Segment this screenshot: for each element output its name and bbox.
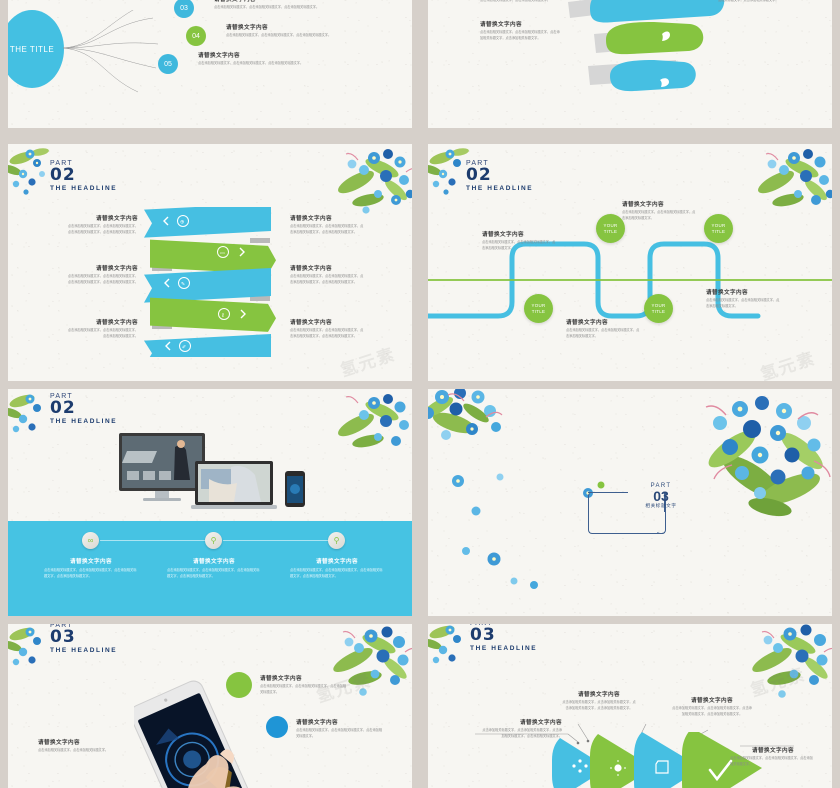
- arrow-text-title: 请替换文字内容: [672, 696, 752, 704]
- device-item-body: 点击添加相关标题文字，点击添加相关标题文字，点击添加相关标题文字，点击添加相关标…: [290, 568, 384, 579]
- item-body: 点击添加相关标题文字，点击添加相关标题文字，点击添加相关标题文字。: [214, 5, 412, 11]
- chevron-group: ⊕ ▭ ✎ ⚷ ✐: [138, 207, 288, 357]
- timeline-node-label-line2: TITLE: [652, 309, 665, 315]
- timeline-text-body: 点击添加相关标题文字，点击添加相关标题文字，点击添加相关标题文字。: [482, 240, 557, 251]
- phone-item-body: 点击添加相关标题文字，点击添加相关标题文字，点击添加相关标题文字。: [260, 684, 348, 695]
- connector-line: [223, 540, 331, 541]
- item-number: 05: [164, 61, 172, 68]
- arrow-text-block: 请替换文字内容 点击添加相关标题文字，点击添加相关标题文字，点击添加相关标题文字…: [562, 690, 636, 711]
- arrow-text-title: 请替换文字内容: [562, 690, 636, 698]
- chevron-text-block: 请替换文字内容 点击添加相关标题文字，点击添加相关标题文字，点击添加相关标题文字…: [290, 318, 366, 339]
- timeline-text-body: 点击添加相关标题文字，点击添加相关标题文字，点击添加相关标题文字。: [622, 210, 697, 221]
- chevron-text-title: 请替换文字内容: [66, 264, 138, 272]
- svg-text:✎: ✎: [181, 282, 185, 288]
- arrow-text-title: 请替换文字内容: [730, 746, 816, 754]
- chevron-text-body: 点击添加相关标题文字，点击添加相关标题文字，点击添加相关标题文字，点击添加相关标…: [290, 274, 366, 285]
- floral-bouquet-icon: [682, 389, 832, 549]
- slide-thumbnail-grid: THE TITLE 01 请替换文字内容 点击添加相关标题文字，点击添加相关标题…: [0, 0, 840, 788]
- chevron-text-title: 请替换文字内容: [290, 214, 366, 222]
- device-item-title: 请替换文字内容: [290, 557, 384, 565]
- ribbon-text-right: 请替换文字内容 点击添加相关标题文字，点击添加相关标题文字，点击添加相关标题文字…: [718, 0, 798, 3]
- watermark: 氢元素: [757, 344, 819, 381]
- slide-section-divider[interactable]: PART 03 相关标题文字: [428, 389, 832, 616]
- phone-item-body: 点击添加相关标题文字，点击添加相关标题文字，点击添加相关标题文字。: [296, 728, 384, 739]
- timeline-node[interactable]: YOUR TITLE: [596, 214, 625, 243]
- svg-text:✐: ✐: [182, 345, 186, 351]
- device-mockup-group: [113, 431, 343, 526]
- connector-line: [100, 540, 210, 541]
- ribbon-icon: [558, 0, 738, 120]
- phone-item: 请替换文字内容 点击添加相关标题文字，点击添加相关标题文字，点击添加相关标题文字…: [296, 718, 384, 739]
- item-number: 03: [180, 5, 188, 12]
- ribbon-text-body: 点击添加相关标题文字，点击添加相关标题文字，点击添加相关标题文字，点击添加相关标…: [480, 30, 560, 41]
- arrow-text-body: 点击添加相关标题文字，点击添加相关标题文字，点击添加相关标题文字。: [730, 756, 816, 767]
- device-item-body: 点击添加相关标题文字，点击添加相关标题文字，点击添加相关标题文字，点击添加相关标…: [44, 568, 138, 579]
- timeline-text-title: 请替换文字内容: [622, 200, 697, 208]
- timeline-text-body: 点击添加相关标题文字，点击添加相关标题文字，点击添加相关标题文字。: [706, 298, 781, 309]
- slide-header: PART 02 THE HEADLINE: [466, 160, 533, 192]
- arrow-text-block: 请替换文字内容 点击添加相关标题文字，点击添加相关标题文字，点击添加相关标题文字…: [672, 696, 752, 717]
- phone-item-title: 请替换文字内容: [296, 718, 384, 726]
- phone-item-title: 请替换文字内容: [38, 738, 130, 746]
- item-number: 04: [192, 33, 200, 40]
- arrow-text-body: 点击添加相关标题文字，点击添加相关标题文字，点击添加相关标题文字，点击添加相关标…: [482, 728, 562, 739]
- item-body: 点击添加相关标题文字，点击添加相关标题文字，点击添加相关标题文字。: [226, 33, 412, 39]
- timeline-text-title: 请替换文字内容: [706, 288, 781, 296]
- chevron-text-body: 点击添加相关标题文字，点击添加相关标题文字，点击添加相关标题文字，点击添加相关标…: [66, 224, 138, 235]
- timeline-text-title: 请替换文字内容: [566, 318, 641, 326]
- chevron-text-block: 请替换文字内容 点击添加相关标题文字，点击添加相关标题文字，点击添加相关标题文字…: [66, 214, 138, 235]
- chevron-text-title: 请替换文字内容: [290, 318, 366, 326]
- section-title-block: PART 03 相关标题文字: [633, 483, 689, 509]
- header-headline: THE HEADLINE: [50, 647, 117, 654]
- chevron-text-block: 请替换文字内容 点击添加相关标题文字，点击添加相关标题文字，点击添加相关标题文字…: [290, 214, 366, 235]
- item-title: 请替换文字内容: [226, 23, 412, 31]
- arrow-text-body: 点击添加相关标题文字，点击添加相关标题文字，点击添加相关标题文字，点击添加相关标…: [672, 706, 752, 717]
- device-item: 请替换文字内容 点击添加相关标题文字，点击添加相关标题文字，点击添加相关标题文字…: [44, 557, 138, 579]
- phone-item-body: 点击添加相关标题文字，点击添加相关标题文字。: [38, 748, 130, 754]
- timeline-node-label-line2: TITLE: [604, 229, 617, 235]
- device-item-title: 请替换文字内容: [44, 557, 138, 565]
- slide-header: PART 02 THE HEADLINE: [50, 160, 117, 192]
- timeline-node[interactable]: YOUR TITLE: [704, 214, 733, 243]
- chevron-text-block: 请替换文字内容 点击添加相关标题文字，点击添加相关标题文字，点击添加相关标题文字…: [66, 318, 138, 339]
- header-part-number: 02: [50, 167, 117, 183]
- slide-arrows[interactable]: PART 03 THE HEADLINE: [428, 624, 832, 788]
- device-item: 请替换文字内容 点击添加相关标题文字，点击添加相关标题文字，点击添加相关标题文字…: [167, 557, 261, 579]
- timeline-node[interactable]: YOUR TITLE: [524, 294, 553, 323]
- chevron-text-body: 点击添加相关标题文字，点击添加相关标题文字，点击添加相关标题文字，点击添加相关标…: [290, 328, 366, 339]
- device-item-body: 点击添加相关标题文字，点击添加相关标题文字，点击添加相关标题文字，点击添加相关标…: [167, 568, 261, 579]
- header-headline: THE HEADLINE: [470, 645, 537, 652]
- svg-text:▭: ▭: [220, 251, 225, 257]
- arrow-text-title: 请替换文字内容: [482, 718, 562, 726]
- title-oval: THE TITLE: [8, 10, 64, 88]
- header-part-number: 03: [470, 627, 537, 643]
- section-frame-top: [588, 492, 628, 493]
- ribbon-text-body: 点击添加相关标题文字，点击添加相关标题文字，点击添加相关标题文字，点击添加相关标…: [718, 0, 798, 3]
- slide-header: PART 03 THE HEADLINE: [50, 624, 117, 654]
- slide-chevrons[interactable]: PART 02 THE HEADLINE ⊕ ▭ ✎: [8, 144, 412, 381]
- timeline-node-label-line2: TITLE: [712, 229, 725, 235]
- phone-item-title: 请替换文字内容: [260, 674, 348, 682]
- device-item: 请替换文字内容 点击添加相关标题文字，点击添加相关标题文字，点击添加相关标题文字…: [290, 557, 384, 579]
- chevron-text-block: 请替换文字内容 点击添加相关标题文字，点击添加相关标题文字，点击添加相关标题文字…: [290, 264, 366, 285]
- chevron-text-body: 点击添加相关标题文字，点击添加相关标题文字，点击添加相关标题文字，点击添加相关标…: [290, 224, 366, 235]
- ribbon-text-title: 请替换文字内容: [480, 20, 560, 28]
- chevron-text-body: 点击添加相关标题文字，点击添加相关标题文字，点击添加相关标题文字。: [66, 328, 138, 339]
- section-subtitle: 相关标题文字: [633, 503, 689, 509]
- section-part-number: 03: [633, 489, 689, 503]
- timeline-text-block: 请替换文字内容 点击添加相关标题文字，点击添加相关标题文字，点击添加相关标题文字…: [566, 318, 641, 339]
- slide-radial-list[interactable]: THE TITLE 01 请替换文字内容 点击添加相关标题文字，点击添加相关标题…: [8, 0, 412, 128]
- floral-corner-icon: [303, 624, 412, 710]
- timeline-text-block: 请替换文字内容 点击添加相关标题文字，点击添加相关标题文字，点击添加相关标题文字…: [482, 230, 557, 251]
- svg-text:⊕: ⊕: [180, 220, 184, 226]
- top-body-text: 点击添加相关标题文字，点击添加相关标题文字。: [480, 0, 560, 4]
- chevron-text-title: 请替换文字内容: [290, 264, 366, 272]
- item-title: 请替换文字内容: [214, 0, 412, 3]
- device-item-title: 请替换文字内容: [167, 557, 261, 565]
- phone-item: 请替换文字内容 点击添加相关标题文字，点击添加相关标题文字，点击添加相关标题文字…: [260, 674, 348, 695]
- item-number-badge: 05: [158, 54, 178, 74]
- header-headline: THE HEADLINE: [50, 185, 117, 192]
- title-oval-label: THE TITLE: [10, 45, 54, 54]
- chevron-text-block: 请替换文字内容 点击添加相关标题文字，点击添加相关标题文字，点击添加相关标题文字…: [66, 264, 138, 285]
- phone-item: 请替换文字内容 点击添加相关标题文字，点击添加相关标题文字。: [38, 738, 130, 754]
- timeline-text-block: 请替换文字内容 点击添加相关标题文字，点击添加相关标题文字，点击添加相关标题文字…: [622, 200, 697, 221]
- slide-zigzag-timeline[interactable]: PART 02 THE HEADLINE YOUR TITLE YOUR TIT…: [428, 144, 832, 381]
- header-headline: THE HEADLINE: [50, 418, 117, 425]
- slide-ribbon[interactable]: 点击添加相关标题文字，点击添加相关标题文字。 请替换文字内容 点击添加相关标题文…: [428, 0, 832, 128]
- svg-text:⚷: ⚷: [221, 313, 225, 319]
- timeline-text-body: 点击添加相关标题文字，点击添加相关标题文字，点击添加相关标题文字。: [566, 328, 641, 339]
- timeline-text-title: 请替换文字内容: [482, 230, 557, 238]
- timeline-node[interactable]: YOUR TITLE: [644, 294, 673, 323]
- item-number-badge: 03: [174, 0, 194, 18]
- timeline-text-block: 请替换文字内容 点击添加相关标题文字，点击添加相关标题文字，点击添加相关标题文字…: [706, 288, 781, 309]
- arrow-text-block: 请替换文字内容 点击添加相关标题文字，点击添加相关标题文字，点击添加相关标题文字…: [482, 718, 562, 739]
- item-title: 请替换文字内容: [198, 51, 398, 59]
- floral-corner-icon: [728, 144, 832, 228]
- timeline-node-label-line2: TITLE: [532, 309, 545, 315]
- slide-phone[interactable]: PART 03 THE HEADLINE 请替换文字内容 点击添加相关标题文字，…: [8, 624, 412, 788]
- header-part-number: 03: [50, 629, 117, 645]
- watermark: 氢元素: [337, 340, 399, 381]
- header-part-number: 02: [50, 400, 117, 416]
- item-number-badge: 04: [186, 26, 206, 46]
- header-part-number: 02: [466, 167, 533, 183]
- slide-devices[interactable]: PART 02 THE HEADLINE ∞ ⚲ ⚲ 请替换文字内容 点击添加: [8, 389, 412, 616]
- key-icon: ⚲: [328, 532, 345, 549]
- search-icon: ⚲: [205, 532, 222, 549]
- chevron-text-title: 请替换文字内容: [66, 214, 138, 222]
- arrow-text-body: 点击添加相关标题文字，点击添加相关标题文字，点击添加相关标题文字，点击添加相关标…: [562, 700, 636, 711]
- arrow-text-block: 请替换文字内容 点击添加相关标题文字，点击添加相关标题文字，点击添加相关标题文字…: [730, 746, 816, 767]
- chevron-text-title: 请替换文字内容: [66, 318, 138, 326]
- slide-header: PART 03 THE HEADLINE: [470, 624, 537, 652]
- chevron-text-body: 点击添加相关标题文字，点击添加相关标题文字，点击添加相关标题文字，点击添加相关标…: [66, 274, 138, 285]
- floral-corner-icon: [428, 389, 525, 468]
- slide-header: PART 02 THE HEADLINE: [50, 393, 117, 425]
- item-body: 点击添加相关标题文字，点击添加相关标题文字，点击添加相关标题文字。: [198, 61, 398, 67]
- header-headline: THE HEADLINE: [466, 185, 533, 192]
- link-icon: ∞: [82, 532, 99, 549]
- ribbon-text-left: 请替换文字内容 点击添加相关标题文字，点击添加相关标题文字，点击添加相关标题文字…: [480, 20, 560, 41]
